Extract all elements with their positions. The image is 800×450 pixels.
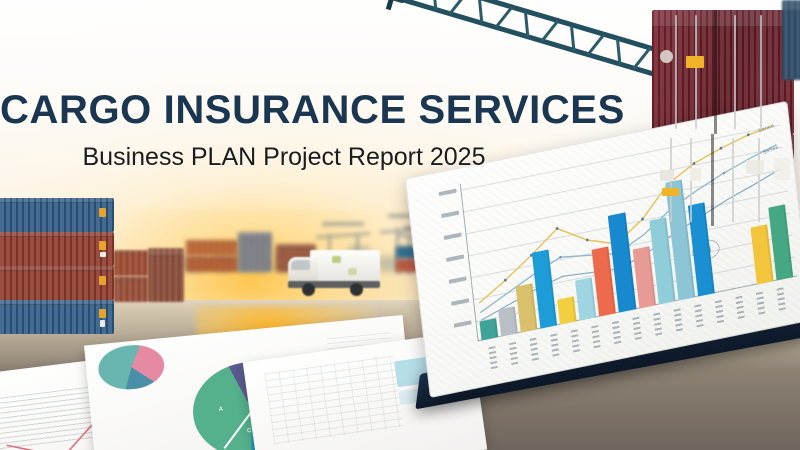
- container-left-5: [114, 250, 148, 276]
- container-left-6: [114, 276, 148, 302]
- container-right-2: [646, 134, 794, 226]
- container-left-3: [0, 266, 114, 300]
- pie-chart-small: [96, 342, 166, 392]
- background-container: [238, 232, 272, 272]
- container-doors: [652, 10, 794, 134]
- container-left-7: [148, 248, 184, 302]
- container-left-1: [0, 198, 114, 232]
- container-left-2: [0, 232, 114, 266]
- container-left-4: [0, 300, 114, 334]
- data-table-block: [265, 356, 404, 445]
- delivery-van: [288, 250, 380, 296]
- pie-slice-label: A: [219, 407, 224, 413]
- container-right-1: [652, 10, 794, 134]
- slide-canvas: A B C: [0, 0, 800, 450]
- road-marking: [160, 314, 460, 316]
- background-container: [186, 256, 238, 272]
- background-container: [186, 240, 238, 256]
- pie-slice-label: C: [247, 428, 252, 434]
